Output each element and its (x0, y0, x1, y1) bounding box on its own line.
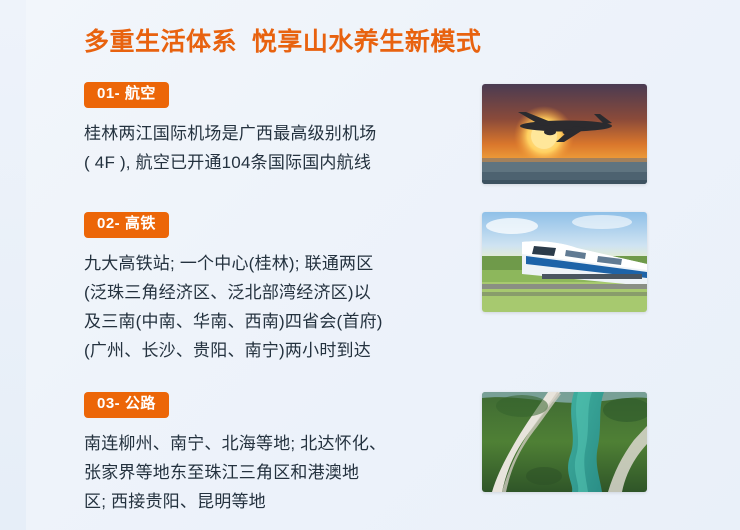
section-badge-rail: 02- 高铁 (84, 212, 169, 238)
section-badge-highway: 03- 公路 (84, 392, 169, 418)
slide-page: 多重生活体系 悦享山水养生新模式 01- 航空 桂林两江国际机场是广西最高级别机… (0, 0, 740, 530)
airplane-sunset-photo (482, 84, 647, 184)
section-text-air: 桂林两江国际机场是广西最高级别机场 ( 4F ), 航空已开通104条国际国内航… (84, 119, 484, 177)
section-text-rail: 九大高铁站; 一个中心(桂林); 联通两区 (泛珠三角经济区、泛北部湾经济区)以… (84, 249, 484, 365)
section-badge-air: 01- 航空 (84, 82, 169, 108)
page-title: 多重生活体系 悦享山水养生新模式 (84, 22, 481, 58)
highway-river-aerial-photo (482, 392, 647, 492)
left-gradient-accent (0, 0, 26, 530)
high-speed-train-photo (482, 212, 647, 312)
section-text-highway: 南连柳州、南宁、北海等地; 北达怀化、 张家界等地东至珠江三角区和港澳地 区; … (84, 429, 484, 516)
